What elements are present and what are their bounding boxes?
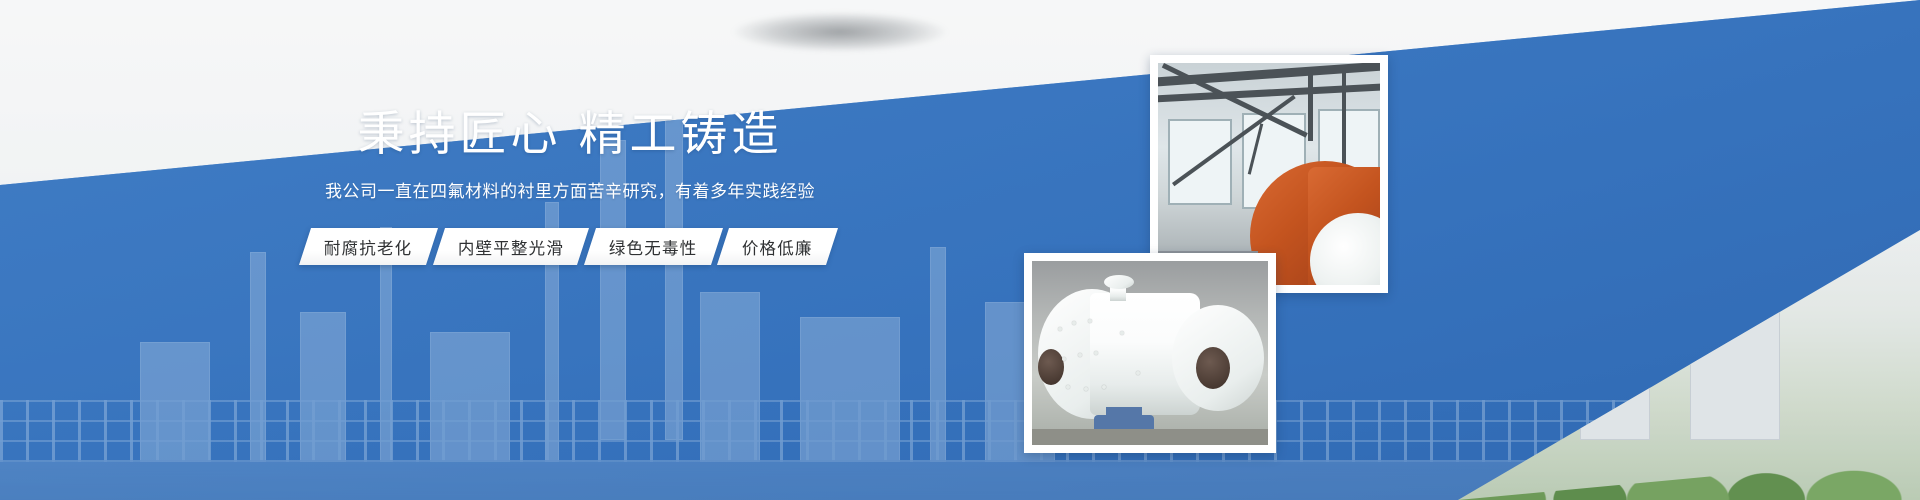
feature-tag-3-label: 绿色无毒性 (609, 235, 698, 259)
feature-tag-4-label: 价格低廉 (742, 235, 813, 259)
banner-subtitle: 我公司一直在四氟材料的衬里方面苦辛研究，有着多年实践经验 (310, 177, 830, 202)
feature-tag-1-label: 耐腐抗老化 (324, 235, 413, 259)
white-lined-tank-image (1032, 261, 1268, 445)
feature-tag-2-label: 内壁平整光滑 (458, 235, 564, 259)
feature-tag-2[interactable]: 内壁平整光滑 (432, 228, 588, 265)
feature-tag-list: 耐腐抗老化 内壁平整光滑 绿色无毒性 价格低廉 (305, 228, 832, 265)
smokestack-plume (690, 0, 990, 60)
feature-tag-4[interactable]: 价格低廉 (717, 228, 838, 265)
hero-banner: 秉持匠心 精工铸造 我公司一直在四氟材料的衬里方面苦辛研究，有着多年实践经验 耐… (0, 0, 1920, 500)
feature-tag-1[interactable]: 耐腐抗老化 (299, 228, 438, 265)
page-title: 秉持匠心 精工铸造 (310, 108, 830, 161)
feature-tag-3[interactable]: 绿色无毒性 (584, 228, 723, 265)
banner-copy: 秉持匠心 精工铸造 我公司一直在四氟材料的衬里方面苦辛研究，有着多年实践经验 (310, 108, 830, 202)
lined-reactor-vessel-image (1158, 63, 1380, 285)
white-lined-tank-photo[interactable] (1024, 253, 1276, 453)
